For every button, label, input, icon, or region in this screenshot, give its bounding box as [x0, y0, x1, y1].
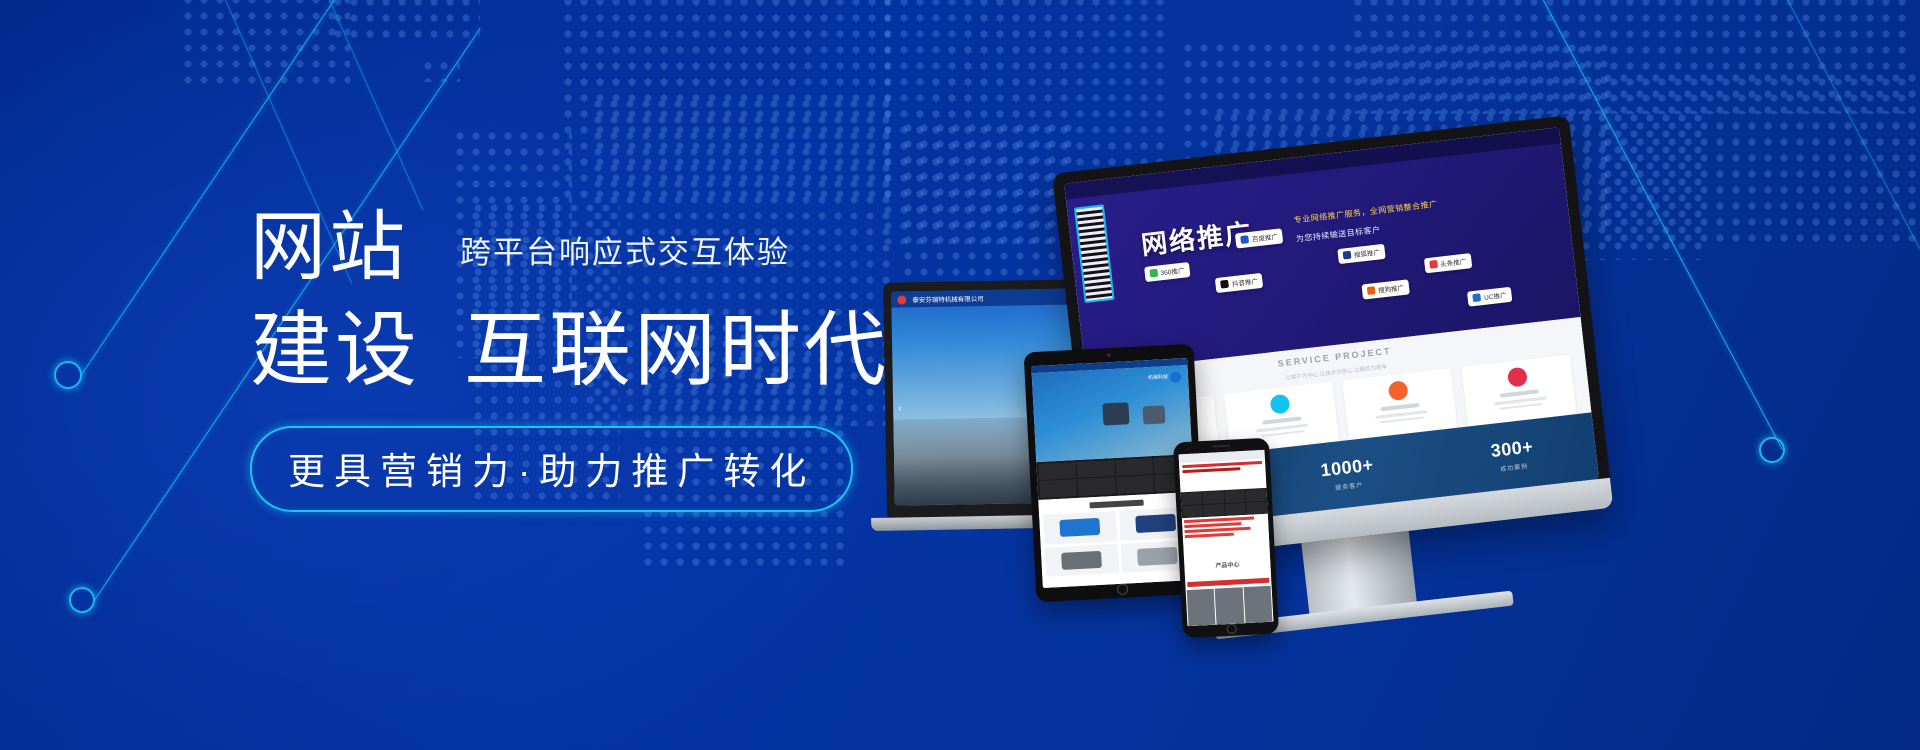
phone-image-grid[interactable] [1186, 585, 1274, 627]
service-icon [1269, 394, 1290, 415]
tablet-hero-image-2 [1143, 405, 1166, 424]
phone-section-title: 产品中心 [1215, 559, 1239, 569]
tablet-brand: 机械科技 [1148, 373, 1168, 381]
dot-cluster-oceania [1350, 0, 1910, 114]
headline-row-2: 建设 互联网时代 [250, 306, 890, 396]
tablet-camera-icon [1107, 353, 1111, 357]
tablet-product-title [1090, 499, 1144, 508]
dot-cluster-europe [560, 0, 890, 204]
tablet-hero-image [1102, 402, 1129, 425]
service-icon [1507, 367, 1528, 388]
phone-mockup: 产品中心 [1173, 438, 1279, 639]
ray-upper-left-2 [329, 0, 423, 211]
device-mockup-cluster: 泰安芬瑞特机械有限公司 芬瑞特 ‹ [880, 120, 1840, 640]
tagline-badge: 更具营销力·助力推广转化 [250, 426, 853, 512]
product-tile[interactable] [1045, 543, 1119, 577]
phone-home-button[interactable] [1227, 624, 1238, 635]
phone-screen: 产品中心 [1179, 450, 1274, 626]
node-circle-left-upper [54, 361, 82, 389]
laptop-logo-icon [897, 295, 906, 304]
phone-speaker-icon [1212, 445, 1230, 448]
dot-cluster-north-america [330, 0, 480, 38]
promo-chip[interactable]: 360推广 [1144, 262, 1190, 282]
tablet-product-section [1038, 491, 1198, 588]
promo-chip[interactable]: 抖音推广 [1215, 273, 1263, 293]
site-hero-sub-2: 为您持续输送目标客户 [1295, 225, 1381, 246]
tablet-home-button[interactable] [1116, 584, 1128, 596]
node-circle-left-lower [69, 587, 95, 613]
headline-line-2: 建设 [250, 306, 420, 396]
stat-value: 1000+ [1320, 454, 1375, 481]
site-hero-sub-1: 专业网络推广服务，全网营销整合推广 [1293, 199, 1438, 226]
headline-emphasis: 互联网时代 [464, 306, 889, 396]
laptop-site-title: 泰安芬瑞特机械有限公司 [912, 293, 984, 304]
phone-banner [1179, 459, 1266, 493]
hero-subtitle: 跨平台响应式交互体验 [460, 227, 790, 272]
phone-news-list [1182, 514, 1270, 553]
promo-chip[interactable]: 搜狗推广 [1361, 279, 1409, 299]
headline-row-1: 网站 跨平台响应式交互体验 [250, 205, 890, 290]
phone-section-header: 产品中心 [1184, 548, 1271, 580]
stat-label: 成功案例 [1500, 461, 1529, 473]
stat-label: 服务客户 [1335, 480, 1364, 492]
tablet-hero: 机械科技 [1032, 365, 1192, 462]
hero-copy: 网站 跨平台响应式交互体验 建设 互联网时代 更具营销力·助力推广转化 [250, 205, 890, 512]
tagline-wrapper: 更具营销力·助力推广转化 [250, 426, 890, 512]
promo-chip[interactable]: UC推广 [1467, 287, 1512, 307]
site-top-nav [1064, 127, 1561, 199]
qr-code-icon [1074, 204, 1115, 303]
laptop-prev-arrow-icon[interactable]: ‹ [898, 403, 902, 415]
promo-chip[interactable]: 搜狐推广 [1337, 243, 1385, 263]
tagline-text: 更具营销力·助力推广转化 [288, 441, 815, 495]
stat-value: 300+ [1490, 436, 1535, 462]
phone-body: 产品中心 [1173, 438, 1279, 639]
headline-line-1: 网站 [250, 205, 408, 290]
service-icon [1388, 381, 1409, 402]
tablet-product-grid[interactable] [1043, 507, 1194, 578]
dot-cluster-mid-left [420, 58, 460, 82]
tablet-logo-icon [1170, 371, 1182, 383]
promo-chip[interactable]: 头条推广 [1423, 253, 1471, 273]
hero-banner: 网站 跨平台响应式交互体验 建设 互联网时代 更具营销力·助力推广转化 泰安芬瑞… [0, 0, 1920, 750]
product-tile[interactable] [1043, 511, 1117, 545]
